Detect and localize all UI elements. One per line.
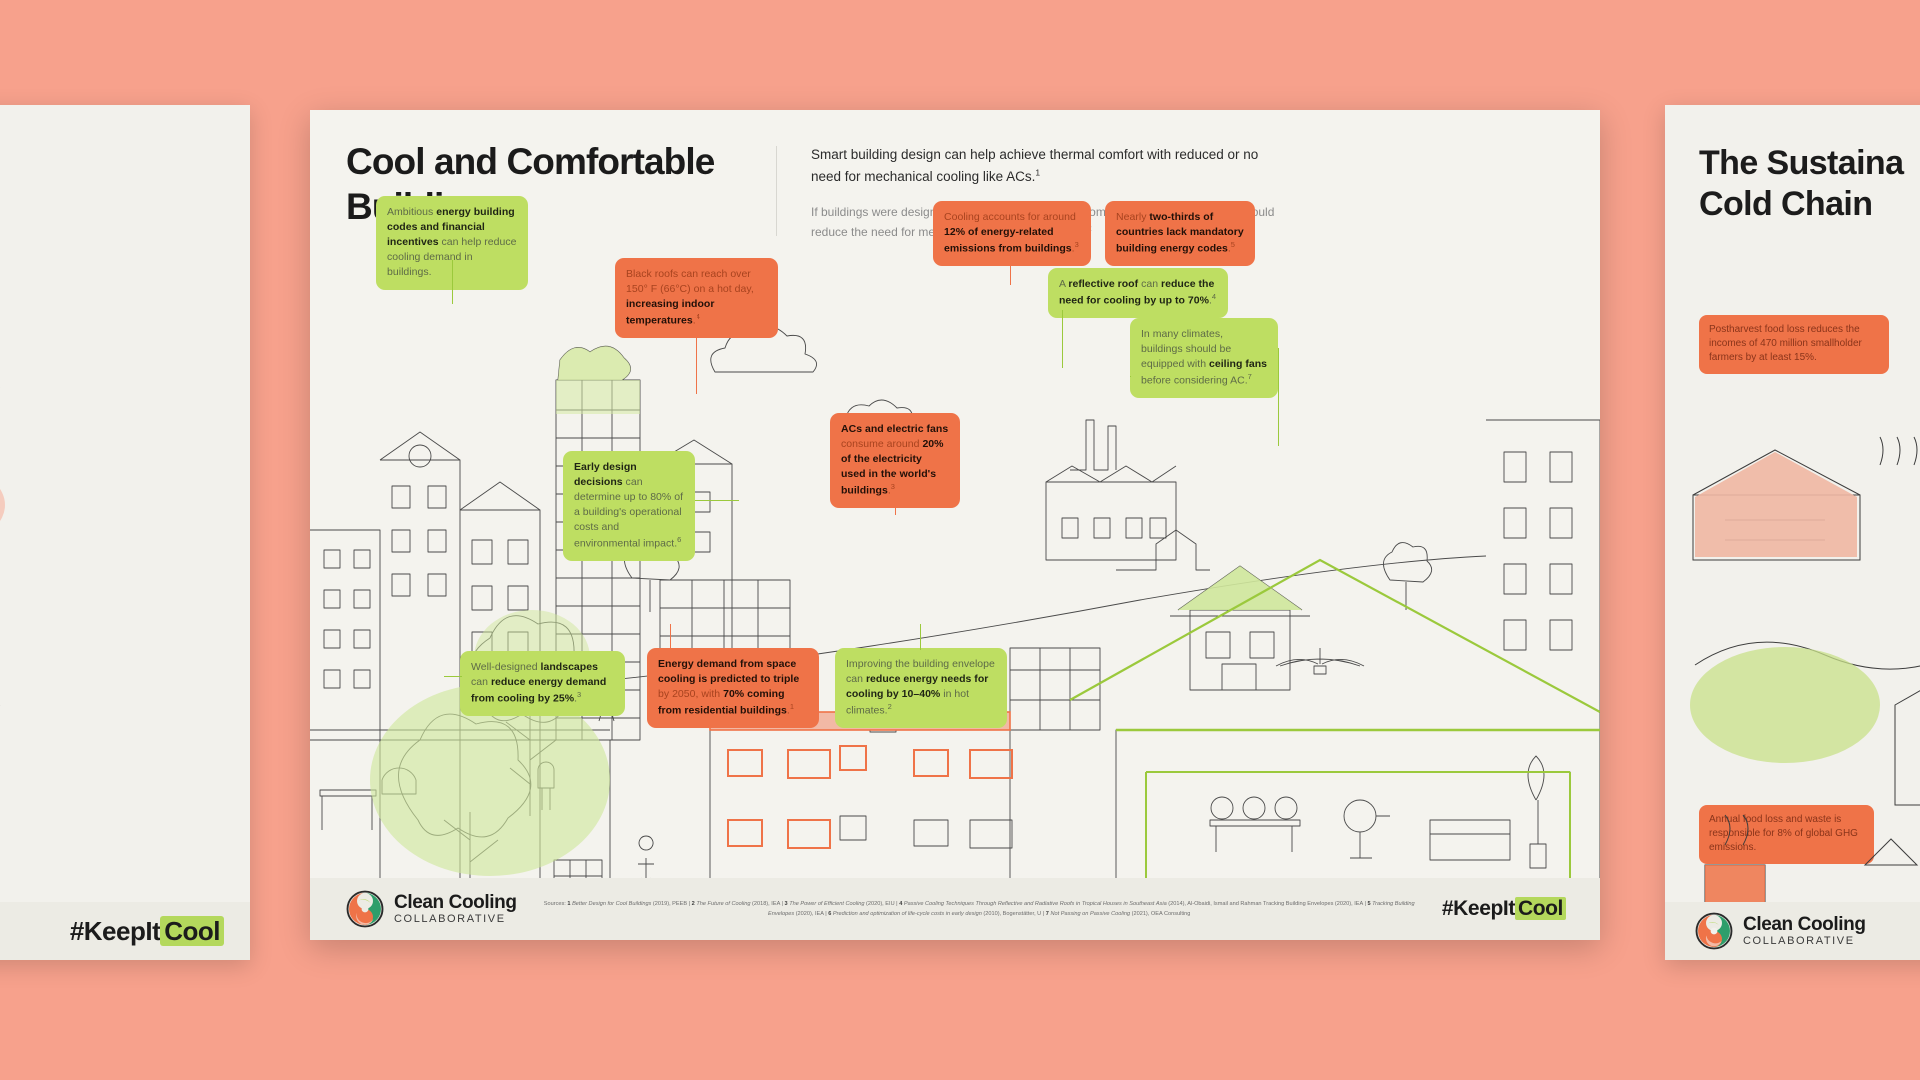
left-poster-footer: #KeepItCool [0, 902, 250, 960]
leader-line-ceiling-fans [1130, 376, 1131, 377]
callout-text-segment: Cooling accounts for around [944, 211, 1076, 223]
right-poster-logo-line1: Clean Cooling [1743, 915, 1866, 935]
callout-footnote: 2 [888, 702, 892, 711]
leader-line-reflective-roof [1062, 310, 1063, 368]
callout-footnote: 3 [577, 690, 581, 699]
callout-landscapes: Well-designed landscapes can reduce ener… [460, 651, 625, 716]
page-title-line1: Cool and Comfortable [346, 140, 766, 185]
leader-line-space-cooling [670, 624, 671, 650]
leader-line-energy-codes [452, 260, 453, 304]
source-title: The Power of Efficient Cooling [789, 901, 866, 907]
source-title: Better Design for Cool Buildings [572, 901, 653, 907]
leader-line-landscapes [444, 676, 462, 677]
callout-text-segment: Black roofs can reach over 150° F (66°C)… [626, 268, 754, 295]
callout-early-design: Early design decisions can determine up … [563, 451, 695, 561]
source-citation: (2021), OEA Consulting [1132, 911, 1191, 917]
poster-right[interactable]: The Sustaina Cold Chain Postharvest food… [1665, 105, 1920, 960]
callout-space-cooling-triple: Energy demand from space cooling is pred… [647, 648, 819, 728]
callout-text-segment: can [471, 676, 491, 688]
callout-text-segment: Ambitious [387, 206, 436, 218]
poster-main[interactable]: Cool and Comfortable Buildings Smart bui… [310, 110, 1600, 940]
leader-line-black-roofs [696, 316, 697, 394]
callout-text-segment: reduce energy demand from cooling by 25% [471, 676, 606, 704]
callout-reflective-roof: A reflective roof can reduce the need fo… [1048, 268, 1228, 318]
sources-text: Sources: 1 Better Design for Cool Buildi… [517, 899, 1442, 920]
callout-text-segment: Nearly [1116, 211, 1149, 223]
callout-cooling-emissions: Cooling accounts for around 12% of energ… [933, 201, 1091, 266]
callout-text-segment: by 2050, with [658, 688, 723, 700]
callout-mandatory-codes: Nearly two-thirds of countries lack mand… [1105, 201, 1255, 266]
callout-text-segment: increasing indoor temperatures [626, 298, 714, 326]
callout-text-segment: before considering AC. [1141, 374, 1248, 386]
left-poster-hashtag: #KeepItCool [70, 916, 224, 947]
main-hashtag: #KeepItCool [1442, 897, 1566, 921]
right-poster-logo-text: Clean Cooling COLLABORATIVE [1743, 915, 1866, 947]
callout-building-envelope: Improving the building envelope can redu… [835, 648, 1007, 728]
main-logo-text: Clean Cooling COLLABORATIVE [394, 893, 517, 925]
callout-text-segment: reflective roof [1068, 278, 1138, 290]
callout-text-segment: ceiling fans [1209, 358, 1267, 370]
header-divider [776, 146, 777, 236]
leader-line-fan-pointer [1278, 348, 1279, 446]
clean-cooling-logo-icon [1695, 912, 1733, 950]
poster-left[interactable]: s more than 7% of ver the same period. a… [0, 105, 250, 960]
main-footer: Clean Cooling COLLABORATIVE Sources: 1 B… [310, 878, 1600, 940]
callout-text-segment: A [1059, 278, 1068, 290]
callout-footnote: 4 [1212, 292, 1216, 301]
main-logo-line2: COLLABORATIVE [394, 913, 517, 925]
callout-footnote: 6 [677, 535, 681, 544]
callout-footnote: 7 [1248, 372, 1252, 381]
main-logo[interactable]: Clean Cooling COLLABORATIVE [346, 890, 517, 928]
callout-text-segment: can [1138, 278, 1161, 290]
right-poster-logo-line2: COLLABORATIVE [1743, 935, 1866, 947]
callout-footnote: 5 [1231, 240, 1235, 249]
source-title: Prediction and optimization of life-cycl… [833, 911, 983, 917]
source-citation: (2010), Bogenstätter, U | [983, 911, 1045, 917]
leader-line-acs-fans [895, 475, 896, 515]
source-citation: (2020), EIU | [866, 901, 899, 907]
leader-line-cooling-emissions [1010, 255, 1011, 285]
callout-text-segment: 12% of energy-related emissions from bui… [944, 226, 1072, 254]
callout-text-segment: Well-designed [471, 661, 541, 673]
city-line-illustration [310, 260, 1600, 880]
source-citation: (2014), Al-Obaidi, Ismail and Rahman Tra… [1168, 901, 1367, 907]
leader-line-early-design [695, 500, 739, 501]
right-poster-footer: Clean Cooling COLLABORATIVE [1665, 902, 1920, 960]
callout-ceiling-fans: In many climates, buildings should be eq… [1130, 318, 1278, 398]
callout-footnote: 3 [1075, 240, 1079, 249]
callout-text-segment: landscapes [541, 661, 598, 673]
left-poster-illustration [0, 105, 250, 960]
source-title: Passive Cooling Techniques Through Refle… [904, 901, 1168, 907]
callout-text-segment: ACs and electric fans [841, 423, 948, 435]
callout-footnote: 1 [790, 702, 794, 711]
callout-text-segment: consume around [841, 438, 922, 450]
header-lead-footnote: 1 [1035, 167, 1040, 177]
source-citation: (2018), IEA | [752, 901, 785, 907]
illustration-scene [310, 260, 1600, 880]
scene-color-accents [370, 346, 1600, 880]
right-poster-logo: Clean Cooling COLLABORATIVE [1695, 912, 1866, 950]
sources-label: Sources: [544, 901, 568, 907]
source-citation: (2020), IEA | [796, 911, 829, 917]
main-logo-line1: Clean Cooling [394, 893, 517, 913]
right-poster-illustration [1665, 105, 1920, 960]
leader-line-envelope [920, 624, 921, 650]
source-title: Not Passing on Passive Cooling [1050, 911, 1131, 917]
clean-cooling-logo-icon [346, 890, 384, 928]
callout-text-segment: Energy demand from space cooling is pred… [658, 658, 799, 685]
header-lead: Smart building design can help achieve t… [811, 144, 1281, 188]
source-citation: (2019), PEEB | [653, 901, 692, 907]
source-title: The Future of Cooling [696, 901, 752, 907]
